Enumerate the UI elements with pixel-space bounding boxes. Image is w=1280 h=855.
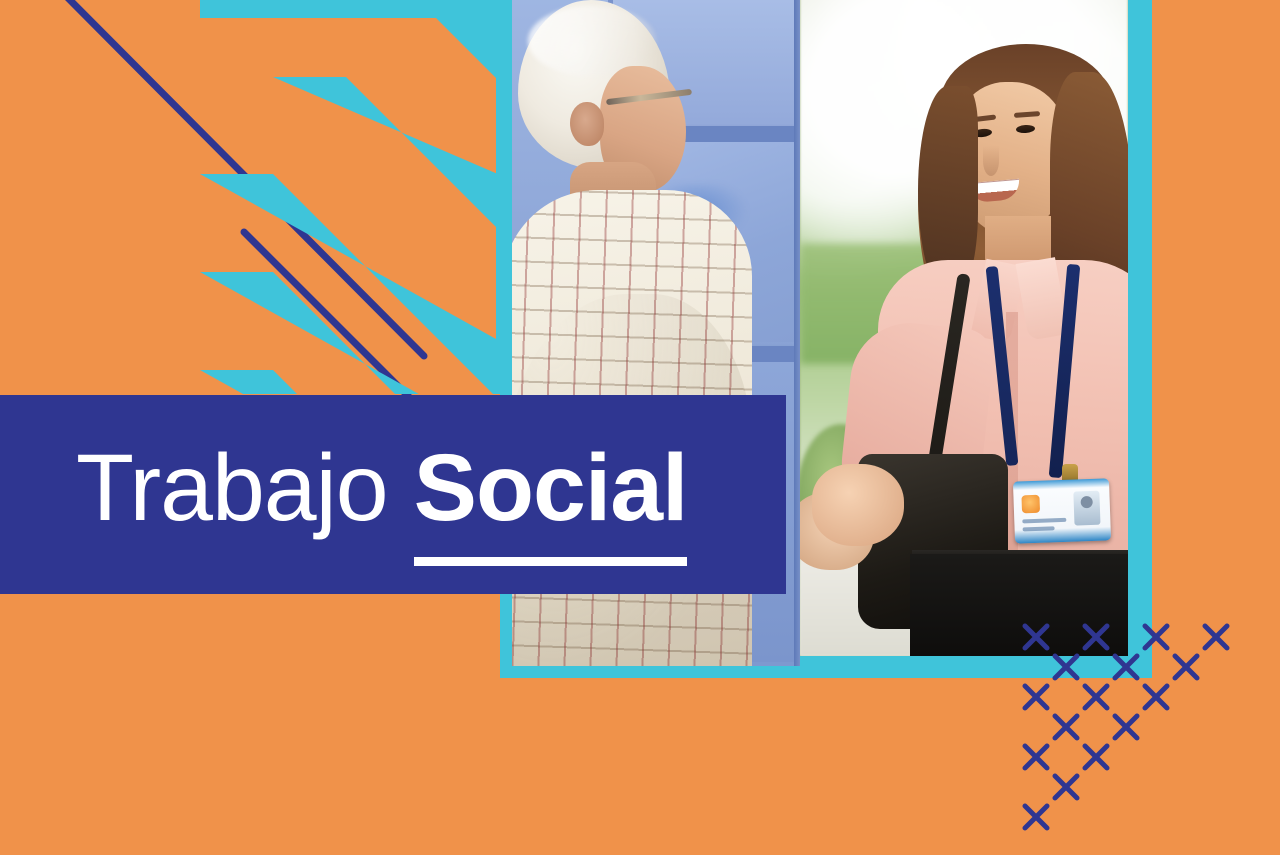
- id-badge: [1013, 478, 1111, 543]
- badge-logo-icon: [1021, 495, 1040, 514]
- badge-text-line: [1023, 526, 1055, 531]
- title-word-social: Social: [414, 441, 688, 536]
- title-word-trabajo: Trabajo: [76, 441, 388, 536]
- badge-text-line: [1022, 518, 1066, 524]
- nose: [983, 146, 999, 176]
- title-underline: [414, 557, 688, 566]
- poster-canvas: Trabajo Social: [0, 0, 1280, 855]
- title-banner: Trabajo Social: [0, 395, 786, 594]
- elderly-man-ear: [570, 102, 604, 146]
- title-word-social-text: Social: [414, 435, 688, 541]
- page-title: Trabajo Social: [76, 441, 687, 536]
- badge-portrait-photo: [1073, 491, 1100, 526]
- social-worker-hand-handshake: [812, 464, 904, 546]
- black-jeans: [910, 554, 1128, 656]
- photo-social-worker: [800, 0, 1128, 656]
